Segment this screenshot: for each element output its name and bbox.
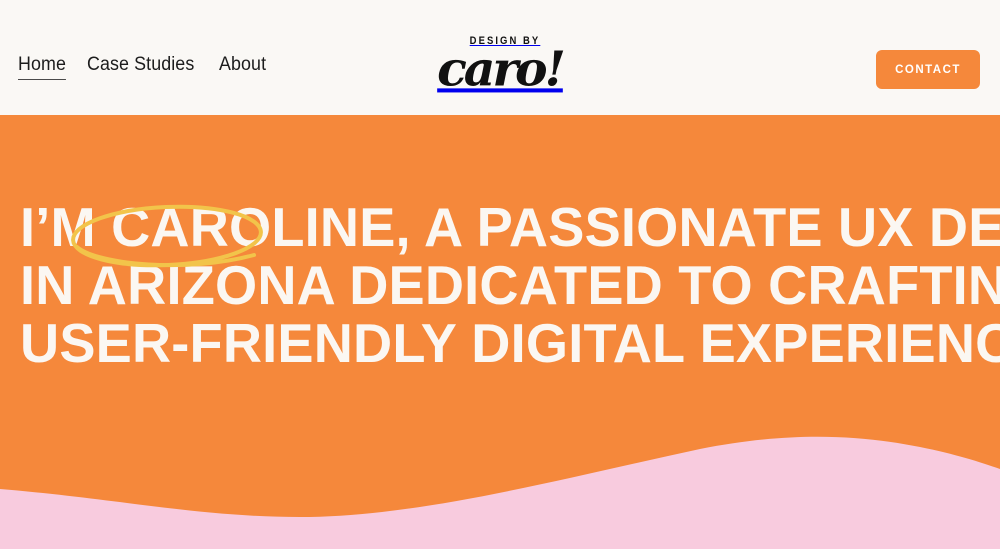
primary-nav: Home Case Studies About xyxy=(18,55,269,80)
nav-item-case-studies[interactable]: Case Studies xyxy=(87,55,194,79)
page-root: Home Case Studies About DESIGN BY caro! … xyxy=(0,0,1000,549)
hero-headline: I’M CAROLINE, A PASSIONATE UX DESIGNER B… xyxy=(20,198,960,372)
headline-line-2: IN ARIZONA DEDICATED TO CRAFTING ACCESSI… xyxy=(20,256,946,314)
site-header: Home Case Studies About DESIGN BY caro! … xyxy=(0,0,1000,115)
nav-item-home[interactable]: Home xyxy=(18,55,66,80)
hero-wave-shape xyxy=(0,369,1000,549)
headline-line-1: I’M CAROLINE, A PASSIONATE UX DESIGNER B… xyxy=(20,198,946,256)
headline-line-3: USER-FRIENDLY DIGITAL EXPERIENCES. xyxy=(20,314,946,372)
hero-section: I’M CAROLINE, A PASSIONATE UX DESIGNER B… xyxy=(0,115,1000,549)
nav-item-about[interactable]: About xyxy=(219,55,266,79)
logo-wordmark-text: caro! xyxy=(417,46,583,94)
contact-button[interactable]: CONTACT xyxy=(876,50,980,89)
site-logo[interactable]: DESIGN BY caro! xyxy=(420,36,580,98)
